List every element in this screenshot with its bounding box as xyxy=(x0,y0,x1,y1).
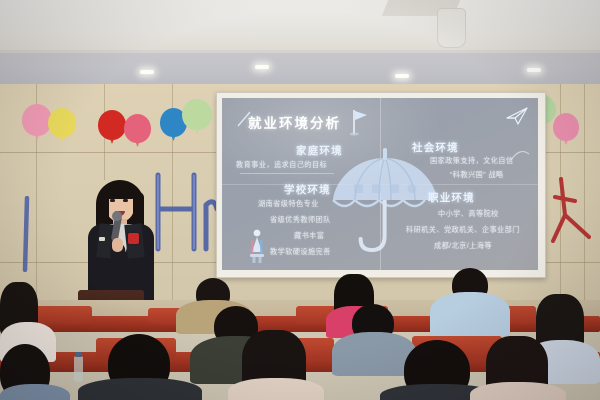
quadrant-line-career: 成都/北京/上海等 xyxy=(434,241,492,251)
presenter-flower-badge xyxy=(128,233,139,244)
downlight xyxy=(527,68,541,72)
quadrant-heading-family: 家庭环境 xyxy=(296,143,343,158)
quadrant-line-career: 中小学、高等院校 xyxy=(438,209,499,219)
water-bottle-cap xyxy=(75,352,82,357)
paper-plane-icon xyxy=(505,106,529,126)
audience-shoulders xyxy=(0,384,70,400)
presenter-hand xyxy=(112,238,123,252)
tinsel-decoration-left xyxy=(148,165,218,260)
tinsel-decoration-left-lower xyxy=(16,196,38,272)
audience-shoulders xyxy=(228,378,324,400)
quadrant-line-social: 国家政策支持，文化自信 xyxy=(430,156,513,166)
quadrant-line-school: 藏书丰富 xyxy=(294,231,324,241)
balloon-red xyxy=(98,110,126,140)
presenter-name-badge xyxy=(99,237,105,241)
downlight xyxy=(140,70,154,74)
quadrant-heading-social: 社会环境 xyxy=(412,140,459,155)
lecture-hall-screenshot: 就业环境分析 家庭环境 教育事业，追求自 xyxy=(0,0,600,400)
audience-shoulders xyxy=(78,378,202,400)
projection-screen[interactable]: 就业环境分析 家庭环境 教育事业，追求自 xyxy=(222,98,538,270)
quadrant-line-family: 教育事业，追求自己的目标 xyxy=(236,160,327,170)
balloon-green xyxy=(182,99,212,130)
microphone-head-icon xyxy=(112,211,122,221)
audience-shoulders xyxy=(470,382,566,400)
quadrant-line-school: 省级优秀教师团队 xyxy=(270,215,331,225)
ceiling xyxy=(0,0,600,52)
umbrella-illustration xyxy=(330,140,440,258)
slide-title: 就业环境分析 xyxy=(248,112,341,132)
quadrant-line-school: 教学软硬设施完善 xyxy=(270,247,331,257)
ceiling-soffit xyxy=(0,50,600,86)
quadrant-rule-family xyxy=(240,173,334,174)
balloon-pink xyxy=(553,113,579,141)
quadrant-line-career: 科研机关、党政机关、企事业部门 xyxy=(406,225,520,235)
quadrant-heading-school: 学校环境 xyxy=(284,182,331,197)
balloon-rose xyxy=(124,114,151,143)
downlight xyxy=(395,74,409,78)
flag-icon xyxy=(350,108,370,136)
balloon-yellow xyxy=(48,108,76,138)
standing-figure-icon xyxy=(246,228,268,264)
tinsel-decoration-right xyxy=(549,175,595,245)
soffit-edge xyxy=(0,50,600,53)
quadrant-heading-career: 职业环境 xyxy=(428,190,475,205)
slash-decoration-icon xyxy=(236,110,252,128)
quadrant-line-school: 湖南省级特色专业 xyxy=(258,199,319,209)
presenter-eye xyxy=(110,199,115,202)
presenter-eye xyxy=(123,199,128,202)
quadrant-line-social: “科教兴国” 战略 xyxy=(450,170,504,180)
water-bottle xyxy=(74,356,83,382)
audience-shoulders xyxy=(430,292,510,336)
ceiling-speaker xyxy=(437,8,466,48)
downlight xyxy=(255,65,269,69)
